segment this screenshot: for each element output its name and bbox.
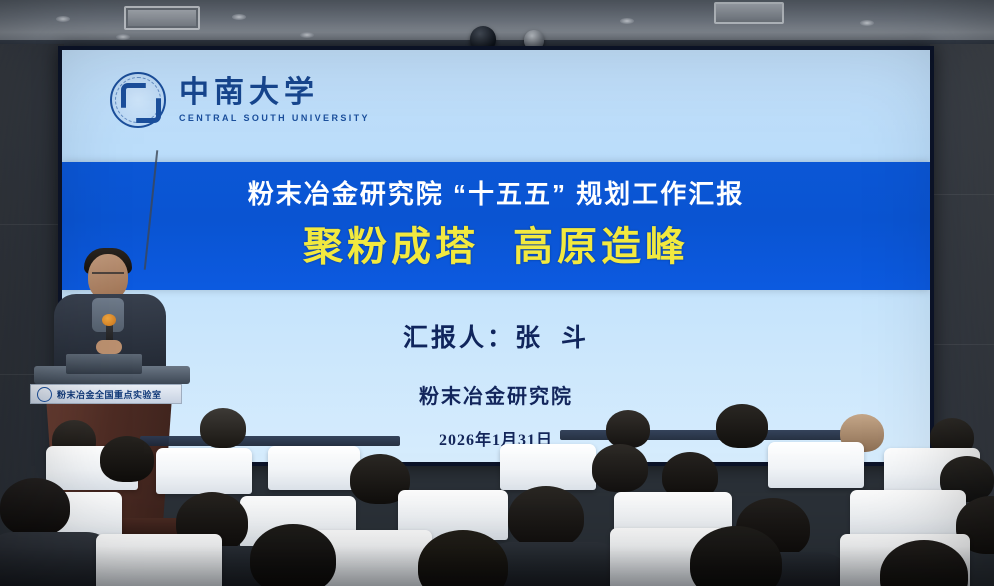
audience-head <box>592 444 648 492</box>
university-name-cn: 中南大学 <box>179 78 370 108</box>
glasses-icon <box>92 272 124 282</box>
podium-sign-text: 粉末冶金全国重点实验室 <box>57 388 162 401</box>
presenter-name-last: 斗 <box>561 324 589 352</box>
audience-head <box>100 436 154 482</box>
downlight-icon <box>860 20 874 26</box>
ceiling-air-vent-icon <box>124 6 200 30</box>
audience-head <box>200 408 246 448</box>
microphone-head-icon <box>102 314 116 326</box>
downlight-icon <box>56 16 70 22</box>
audience-head <box>0 478 70 536</box>
downlight-icon <box>232 14 246 20</box>
audience-head <box>508 486 584 548</box>
audience <box>0 400 994 586</box>
desk <box>140 436 400 446</box>
audience-head <box>716 404 768 448</box>
chair <box>768 442 864 488</box>
chair <box>156 448 252 494</box>
chair <box>500 444 596 490</box>
chair <box>268 446 360 490</box>
audience-head <box>606 410 650 448</box>
chair <box>96 534 222 586</box>
slogan-right: 高原造峰 <box>513 225 689 269</box>
university-name-en: CENTRAL SOUTH UNIVERSITY <box>179 113 370 123</box>
downlight-icon <box>300 32 314 38</box>
slide-title: 粉末冶金研究院 “十五五” 规划工作汇报 <box>62 174 930 211</box>
desk <box>560 430 860 440</box>
speaker-hand <box>96 340 122 354</box>
downlight-icon <box>620 18 634 24</box>
ceiling-air-vent-icon-2 <box>714 2 784 24</box>
presenter-name-first: 张 <box>515 324 543 352</box>
presenter-label: 汇报人： <box>403 324 515 352</box>
university-logo: 中南大学 CENTRAL SOUTH UNIVERSITY <box>110 72 370 128</box>
slogan-left: 聚粉成塔 <box>303 225 479 269</box>
laptop-icon <box>66 354 142 374</box>
audience-head-foreground <box>250 524 336 586</box>
lecture-hall-photo: 中南大学 CENTRAL SOUTH UNIVERSITY 粉末冶金研究院 “十… <box>0 0 994 586</box>
csu-seal-icon <box>110 72 166 128</box>
